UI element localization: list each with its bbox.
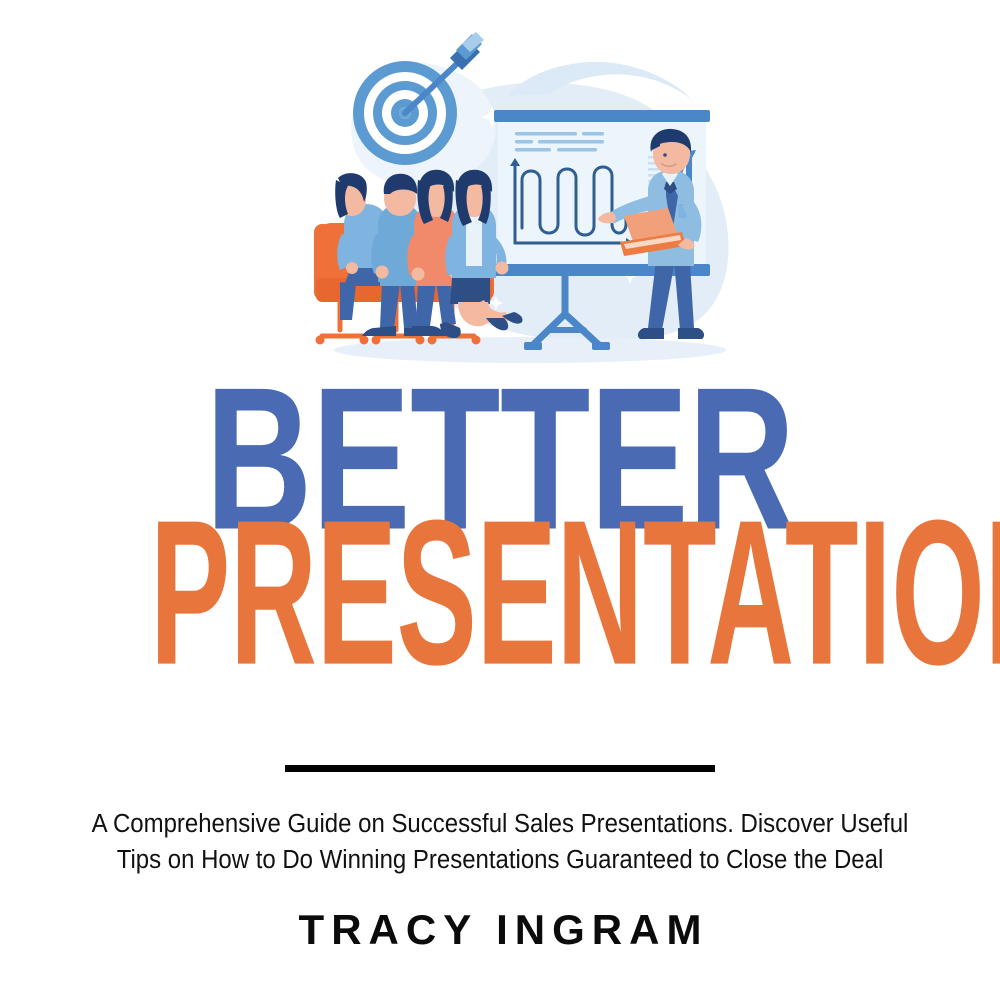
book-cover: BETTER PRESENTATIONS A Comprehensive Gui…	[0, 0, 1000, 1000]
shoe-left	[362, 326, 396, 336]
presenter-shoe-right	[678, 328, 704, 339]
presenter-shoe-left	[638, 328, 664, 339]
author-name: TRACY INGRAM	[0, 906, 1000, 954]
skirt	[450, 276, 490, 304]
subtitle-line-2: Tips on How to Do Winning Presentations …	[86, 842, 913, 878]
board-text-lines	[515, 132, 604, 152]
subtitle: A Comprehensive Guide on Successful Sale…	[86, 806, 913, 878]
business-presentation-illustration	[300, 28, 740, 388]
presenter-eye	[663, 153, 667, 157]
subtitle-line-1: A Comprehensive Guide on Successful Sale…	[86, 806, 913, 842]
title-block: BETTER PRESENTATIONS	[0, 386, 1000, 668]
title-line-presentations: PRESENTATIONS	[150, 505, 850, 682]
board-top-frame	[494, 110, 710, 122]
divider-rule	[285, 765, 715, 772]
